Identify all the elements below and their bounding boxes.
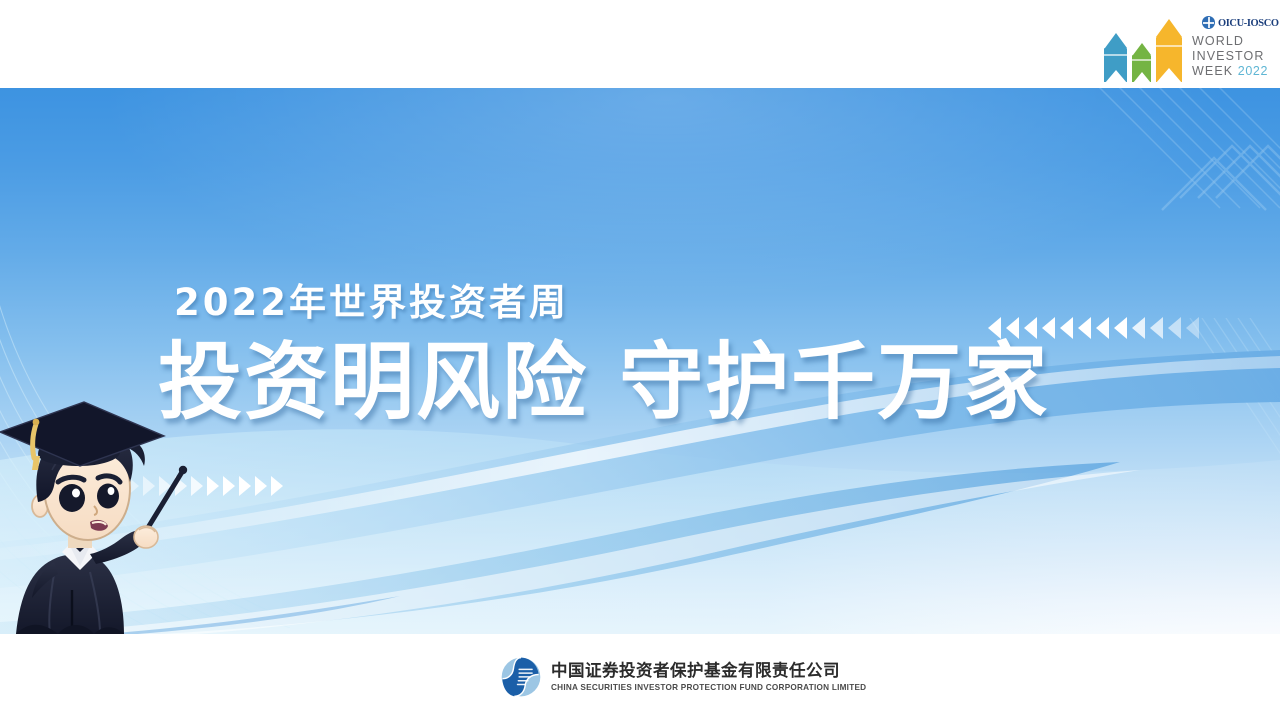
chevron-right-icon <box>111 476 123 496</box>
poster-canvas: OICU-IOSCO WORLD INVESTOR WEEK 2022 <box>0 0 1280 719</box>
wiw-year-label: 2022 <box>1238 64 1268 78</box>
poster-headline: 投资明风险 守护千万家 <box>158 337 1049 428</box>
wiw-line-investor: INVESTOR <box>1192 49 1268 64</box>
iosco-wordmark: OICU-IOSCO <box>1218 17 1279 29</box>
top-white-bar: OICU-IOSCO WORLD INVESTOR WEEK 2022 <box>0 0 1280 88</box>
chevron-right-icon <box>143 476 155 496</box>
chevron-left-icon <box>1132 317 1145 339</box>
world-investor-week-logo: OICU-IOSCO WORLD INVESTOR WEEK 2022 <box>1102 6 1262 86</box>
chevron-left-icon <box>1114 317 1127 339</box>
csipf-wordmark: 中国证券投资者保护基金有限责任公司 CHINA SECURITIES INVES… <box>551 662 866 693</box>
csipf-logo: 中国证券投资者保护基金有限责任公司 CHINA SECURITIES INVES… <box>500 656 866 698</box>
poster-eyebrow: 2022年世界投资者周 <box>174 284 1049 321</box>
chevron-left-icon <box>1186 317 1199 339</box>
chevron-right-icon <box>207 476 219 496</box>
wiw-week-label: WEEK <box>1192 64 1233 78</box>
chevron-right-icon <box>191 476 203 496</box>
headline-block: 2022年世界投资者周 投资明风险 守护千万家 <box>158 284 1049 428</box>
chevron-right-icon <box>127 476 139 496</box>
globe-icon <box>1202 16 1215 29</box>
footer-bar: 中国证券投资者保护基金有限责任公司 CHINA SECURITIES INVES… <box>0 634 1280 719</box>
chevron-right-icon <box>271 476 283 496</box>
pencil-blue-icon <box>1104 34 1127 82</box>
chevron-left-icon <box>1168 317 1181 339</box>
pencil-green-icon <box>1132 44 1151 82</box>
chevron-left-icon <box>1060 317 1073 339</box>
graduation-cap-icon <box>0 402 164 470</box>
pointer-stick-icon <box>138 466 187 544</box>
csipf-name-en: CHINA SECURITIES INVESTOR PROTECTION FUN… <box>551 683 866 693</box>
pencils-icon <box>1102 20 1184 82</box>
chevron-left-icon <box>1150 317 1163 339</box>
chevron-right-icon <box>223 476 235 496</box>
chevron-right-icon <box>175 476 187 496</box>
chevron-right-icon <box>95 476 107 496</box>
chevron-right-icon <box>255 476 267 496</box>
chevron-right-icon <box>239 476 251 496</box>
right-chevron-strip <box>95 476 283 496</box>
pencil-yellow-icon <box>1156 20 1182 82</box>
wiw-line-world: WORLD <box>1192 34 1268 49</box>
hero-banner: 2022年世界投资者周 投资明风险 守护千万家 <box>0 88 1280 634</box>
right-lower-hatch-decoration <box>1040 318 1280 598</box>
csipf-name-cn: 中国证券投资者保护基金有限责任公司 <box>551 662 866 681</box>
world-investor-week-wordmark: WORLD INVESTOR WEEK 2022 <box>1192 34 1268 78</box>
wiw-line-week-year: WEEK 2022 <box>1192 64 1268 79</box>
iosco-logo: OICU-IOSCO <box>1202 16 1280 29</box>
chevron-left-icon <box>1078 317 1091 339</box>
chevron-right-icon <box>159 476 171 496</box>
chevron-left-icon <box>1096 317 1109 339</box>
csipf-globe-icon <box>500 656 542 698</box>
